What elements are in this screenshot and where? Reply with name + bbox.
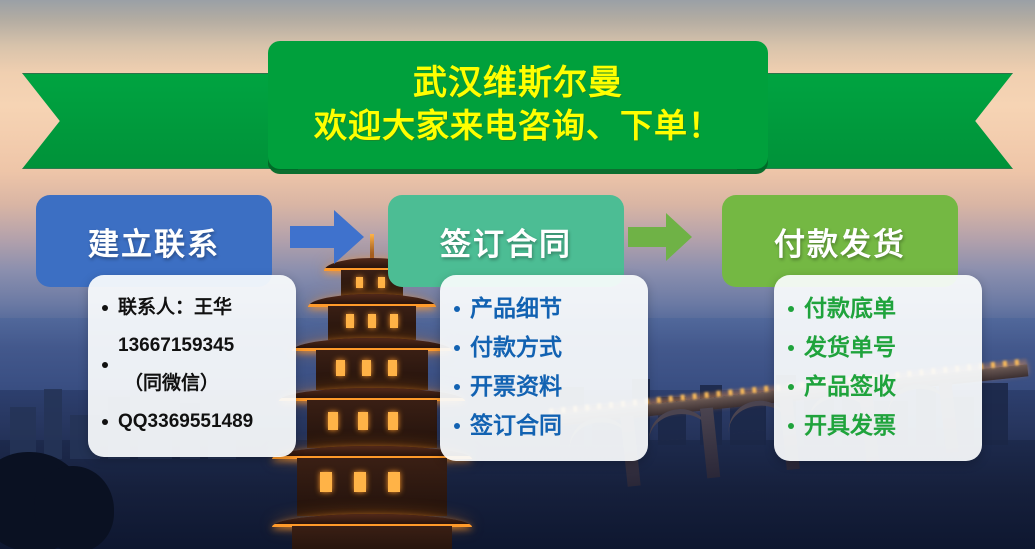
banner-ribbon: 武汉维斯尔曼 欢迎大家来电咨询、下单！ (0, 0, 1035, 180)
banner-subtitle: 欢迎大家来电咨询、下单！ (314, 105, 722, 147)
step3-detail-card: 付款底单 发货单号 产品签收 开具发票 (774, 275, 982, 461)
step3-header: 付款发货 (722, 195, 958, 287)
arrow-right-icon (290, 208, 364, 266)
list-item: 13667159345 （同微信） (98, 327, 286, 403)
list-item: 付款方式 (450, 328, 638, 367)
step2-item-1: 付款方式 (470, 334, 562, 360)
step3-item-3: 开具发票 (804, 412, 896, 438)
banner-plaque: 武汉维斯尔曼 欢迎大家来电咨询、下单！ (268, 41, 768, 169)
step3-item-1: 发货单号 (804, 334, 896, 360)
qq-number: QQ3369551489 (118, 411, 253, 432)
contact-person: 联系人：王华 (118, 297, 232, 318)
step3-item-2: 产品签收 (804, 373, 896, 399)
ribbon-right-tail (743, 73, 1013, 169)
arrow-right-icon (628, 212, 692, 262)
list-item: 开票资料 (450, 367, 638, 406)
company-name: 武汉维斯尔曼 (413, 63, 623, 103)
step2-item-3: 签订合同 (470, 412, 562, 438)
step1-header: 建立联系 (36, 195, 272, 287)
step2-detail-card: 产品细节 付款方式 开票资料 签订合同 (440, 275, 648, 461)
step2-header: 签订合同 (388, 195, 624, 287)
list-item: 产品细节 (450, 289, 638, 328)
list-item: 付款底单 (784, 289, 972, 328)
phone-note: （同微信） (118, 365, 286, 403)
step-sign-contract[interactable]: 签订合同 产品细节 付款方式 开票资料 签订合同 (388, 195, 624, 287)
list-item: 联系人：王华 (98, 289, 286, 327)
step2-item-0: 产品细节 (470, 295, 562, 321)
step-establish-contact[interactable]: 建立联系 联系人：王华 13667159345 （同微信） QQ33695514… (36, 195, 272, 287)
step1-detail-card: 联系人：王华 13667159345 （同微信） QQ3369551489 (88, 275, 296, 457)
list-item: 签订合同 (450, 406, 638, 445)
slide-canvas: 武汉维斯尔曼 欢迎大家来电咨询、下单！ 建立联系 联系人：王华 13667159… (0, 0, 1035, 549)
ribbon-left-tail (22, 73, 292, 169)
list-item: 产品签收 (784, 367, 972, 406)
list-item: 发货单号 (784, 328, 972, 367)
step2-item-2: 开票资料 (470, 373, 562, 399)
foreground-tree (34, 466, 114, 549)
step3-item-0: 付款底单 (804, 295, 896, 321)
list-item: 开具发票 (784, 406, 972, 445)
step-payment-shipping[interactable]: 付款发货 付款底单 发货单号 产品签收 开具发票 (722, 195, 958, 287)
list-item: QQ3369551489 (98, 403, 286, 441)
phone-number: 13667159345 (118, 335, 234, 356)
